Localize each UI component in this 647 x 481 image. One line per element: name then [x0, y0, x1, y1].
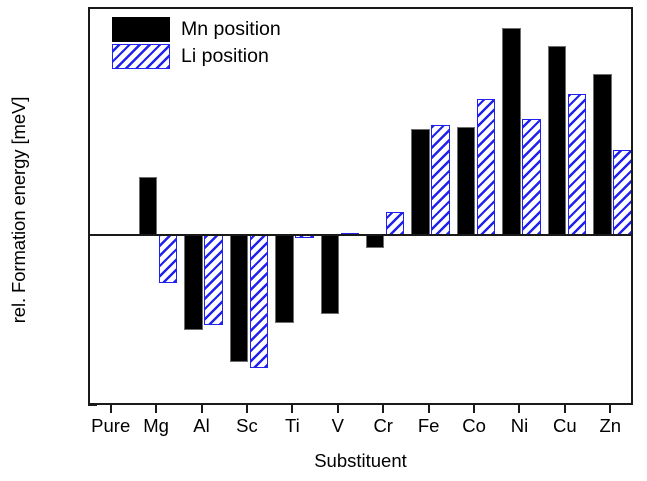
- x-tick: [518, 405, 520, 413]
- bar-cu-li: [568, 94, 587, 235]
- bar-v-mn: [321, 235, 340, 315]
- bar-mg-li: [159, 235, 178, 283]
- bar-sc-mn: [230, 235, 249, 362]
- bar-cr-li: [386, 212, 405, 235]
- bar-ni-mn: [502, 28, 521, 235]
- bar-fe-li: [431, 125, 450, 235]
- x-tick: [564, 405, 566, 413]
- bar-al-mn: [184, 235, 203, 330]
- x-tick: [246, 405, 248, 413]
- bar-cu-mn: [548, 46, 567, 235]
- bar-zn-mn: [593, 74, 612, 235]
- y-axis-label: rel. Formation energy [meV]: [2, 0, 36, 420]
- legend-item: Li position: [112, 43, 281, 70]
- x-tick: [473, 405, 475, 413]
- x-tick: [110, 405, 112, 413]
- legend-swatch-mn: [112, 17, 170, 42]
- x-tick: [428, 405, 430, 413]
- bar-fe-mn: [411, 129, 430, 234]
- x-tick: [382, 405, 384, 413]
- legend-label: Mn position: [181, 20, 281, 40]
- bar-cr-mn: [366, 235, 385, 248]
- formation-energy-bar-chart: rel. Formation energy [meV] Substituent …: [0, 0, 647, 481]
- bar-ti-mn: [275, 235, 294, 323]
- x-tick: [291, 405, 293, 413]
- bar-co-li: [477, 99, 496, 235]
- x-axis-label: Substituent: [88, 450, 633, 472]
- x-tick: [155, 405, 157, 413]
- x-tick: [609, 405, 611, 413]
- bar-ni-li: [522, 119, 541, 235]
- legend-label: Li position: [181, 47, 269, 67]
- bar-mg-mn: [139, 177, 158, 235]
- x-tick: [201, 405, 203, 413]
- legend-item: Mn position: [112, 16, 281, 43]
- legend: Mn positionLi position: [112, 16, 281, 70]
- zero-baseline: [90, 234, 631, 236]
- x-tick: [337, 405, 339, 413]
- bar-al-li: [204, 235, 223, 325]
- x-tick-label: Zn: [570, 417, 647, 436]
- bar-zn-li: [613, 150, 631, 235]
- bar-sc-li: [250, 235, 269, 368]
- bar-co-mn: [457, 127, 476, 235]
- legend-swatch-li: [112, 44, 170, 69]
